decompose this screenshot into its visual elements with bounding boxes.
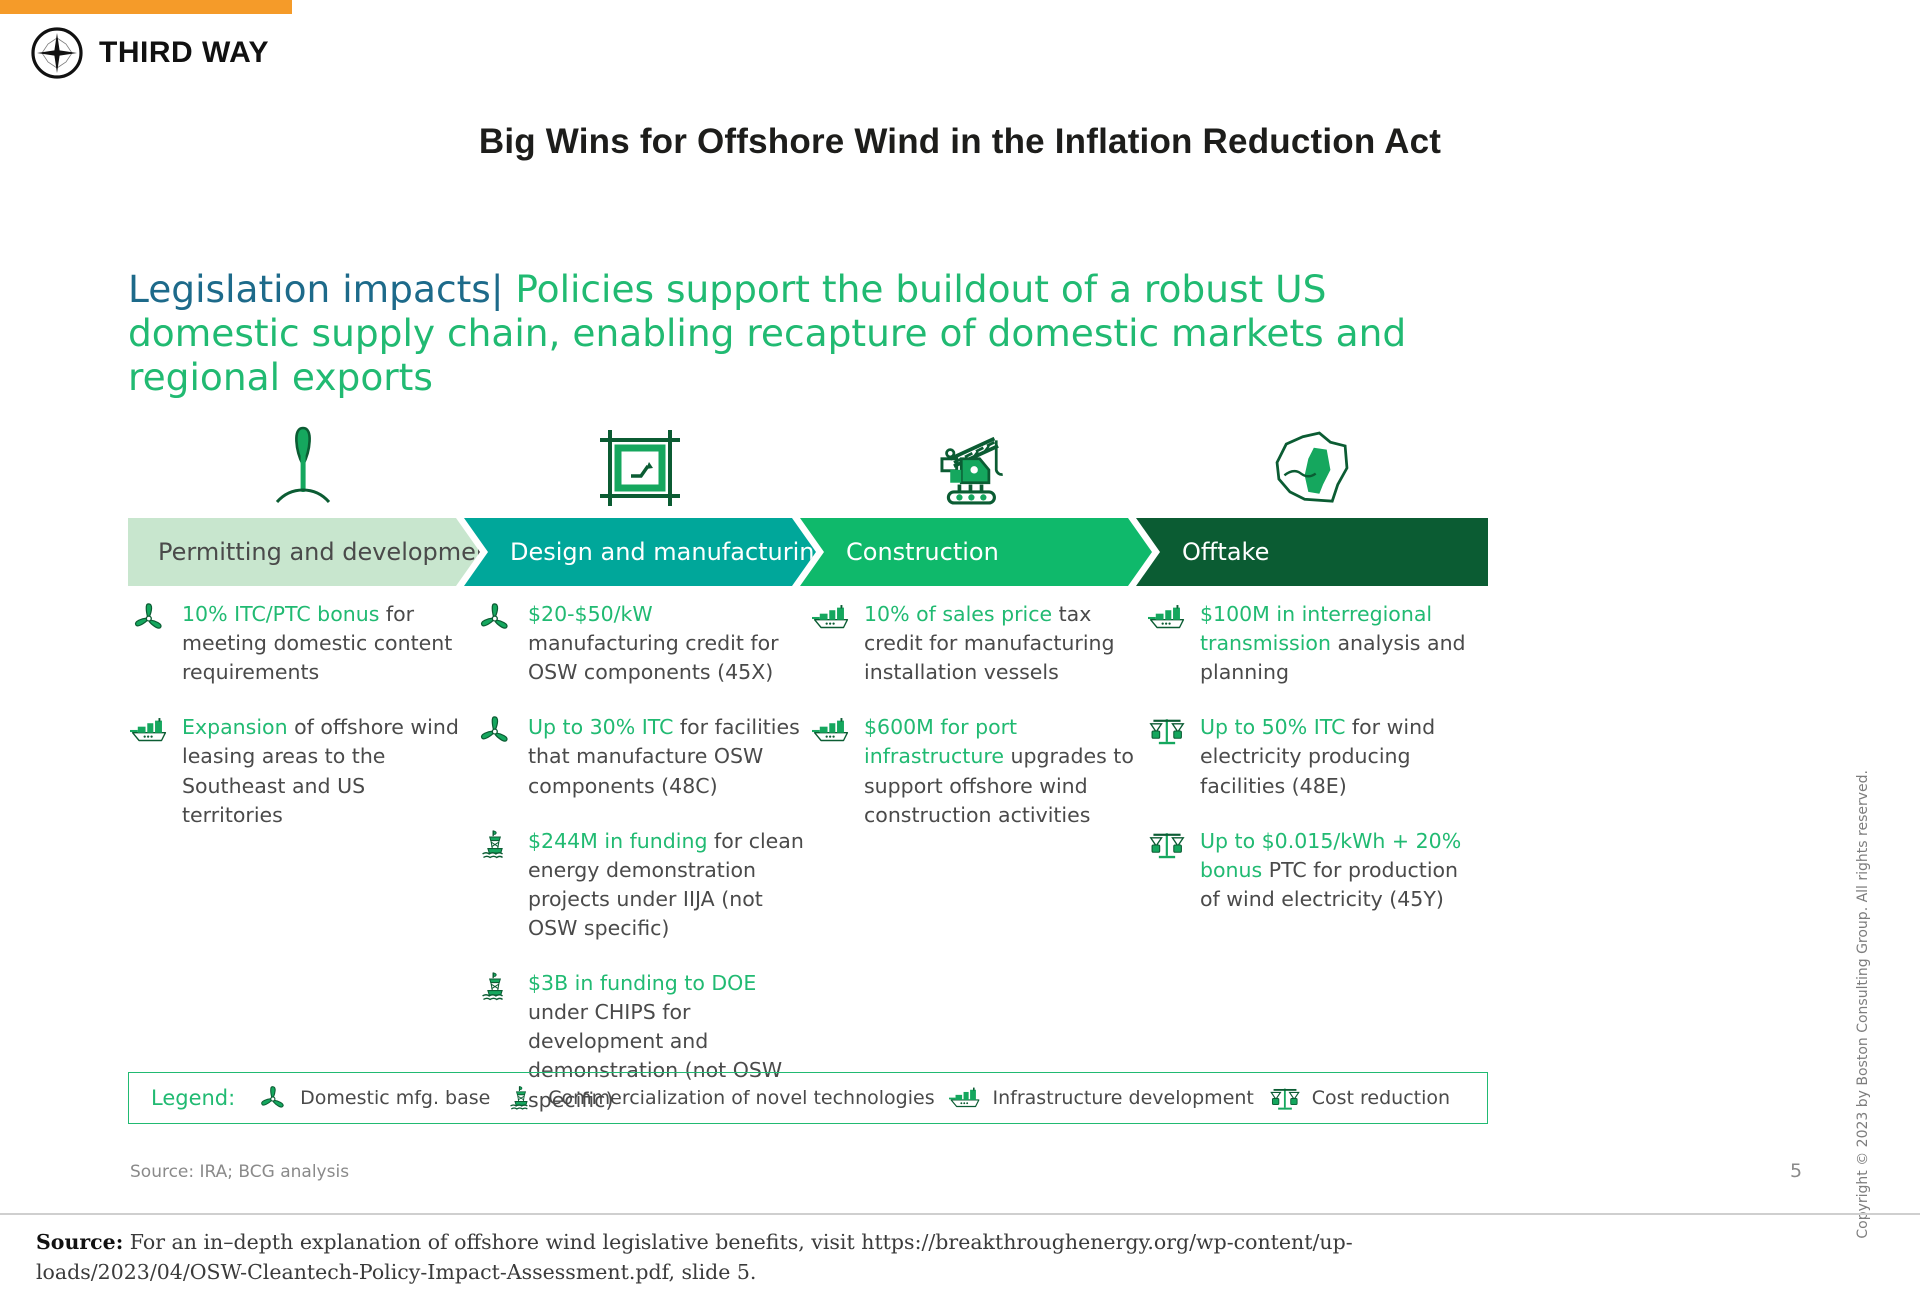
legend-item-4: Cost reduction <box>1268 1083 1450 1113</box>
stage-icon-1 <box>244 416 364 516</box>
benefit-item: Up to $0.015/kWh + 20% bonus PTC for pro… <box>1146 827 1480 914</box>
ship-icon <box>128 713 170 749</box>
footer-divider <box>0 1213 1920 1215</box>
benefit-highlight: $600M for port infrastructure <box>864 715 1017 768</box>
stage-chevron-2[interactable]: Design and manufacturing <box>464 518 816 586</box>
stage-column-3: 10% of sales price tax credit for manufa… <box>810 600 1144 856</box>
wind-turbine-icon <box>258 424 350 516</box>
benefit-item: $244M in funding for clean energy demons… <box>474 827 808 943</box>
benefit-text: $244M in funding for clean energy demons… <box>528 827 808 943</box>
benefit-highlight: $244M in funding <box>528 829 708 853</box>
subtitle: Legislation impacts| Policies support th… <box>128 268 1488 400</box>
benefit-highlight: 10% ITC/PTC bonus <box>182 602 379 626</box>
page-title: Big Wins for Offshore Wind in the Inflat… <box>0 122 1920 162</box>
blueprint-icon <box>594 424 686 516</box>
benefit-item: 10% of sales price tax credit for manufa… <box>810 600 1144 687</box>
legend-label: Domestic mfg. base <box>300 1087 490 1109</box>
brand-name: THIRD WAY <box>99 36 269 70</box>
buoy-icon <box>474 827 516 863</box>
benefit-highlight: 10% of sales price <box>864 602 1052 626</box>
turbine-blade-icon <box>256 1083 290 1113</box>
benefit-highlight: Up to 30% ITC <box>528 715 673 739</box>
footer-source-text: For an in–depth explanation of offshore … <box>36 1230 1353 1284</box>
legend-label: Cost reduction <box>1312 1087 1450 1109</box>
benefit-item: $600M for port infrastructure upgrades t… <box>810 713 1144 829</box>
stage-chevron-4[interactable]: Offtake <box>1136 518 1488 586</box>
footer-source: Source: For an in–depth explanation of o… <box>36 1228 1536 1287</box>
subtitle-separator: | <box>491 267 504 311</box>
benefit-text: Up to $0.015/kWh + 20% bonus PTC for pro… <box>1200 827 1480 914</box>
benefit-text: Expansion of offshore wind leasing areas… <box>182 713 462 829</box>
stage-icon-row <box>128 408 1488 516</box>
benefit-text: $600M for port infrastructure upgrades t… <box>864 713 1144 829</box>
stage-column-4: $100M in interregional transmission anal… <box>1146 600 1480 940</box>
ship-icon <box>948 1083 982 1113</box>
subtitle-lead: Legislation impacts <box>128 267 491 311</box>
source-note: Source: IRA; BCG analysis <box>130 1162 349 1182</box>
crane-icon <box>930 424 1022 516</box>
turbine-blade-icon <box>474 600 516 636</box>
benefit-highlight: $3B in funding to DOE <box>528 971 756 995</box>
copyright-notice: Copyright © 2023 by Boston Consulting Gr… <box>1855 770 1871 1239</box>
benefit-text: $100M in interregional transmission anal… <box>1200 600 1480 687</box>
stage-label-1: Permitting and development <box>158 538 501 566</box>
brand-logo: THIRD WAY <box>30 26 269 80</box>
stage-label-4: Offtake <box>1182 538 1269 566</box>
benefit-highlight: Up to 50% ITC <box>1200 715 1345 739</box>
turbine-blade-icon <box>474 713 516 749</box>
stage-banner: Permitting and developmentDesign and man… <box>128 518 1488 586</box>
benefit-highlight: Expansion <box>182 715 288 739</box>
benefit-item: Expansion of offshore wind leasing areas… <box>128 713 462 829</box>
legend-item-2: Commercialization of novel technologies <box>504 1083 934 1113</box>
buoy-icon <box>504 1083 538 1113</box>
map-region-icon <box>1266 424 1358 516</box>
stage-chevron-3[interactable]: Construction <box>800 518 1152 586</box>
stage-label-3: Construction <box>846 538 999 566</box>
legend-item-1: Domestic mfg. base <box>256 1083 490 1113</box>
stage-column-1: 10% ITC/PTC bonus for meeting domestic c… <box>128 600 462 856</box>
scales-icon <box>1146 827 1188 863</box>
stage-icon-4 <box>1252 416 1372 516</box>
benefit-text: 10% of sales price tax credit for manufa… <box>864 600 1144 687</box>
benefit-body: manufacturing credit for OSW components … <box>528 631 779 684</box>
accent-bar <box>0 0 292 14</box>
benefit-item: $20-$50/kW manufacturing credit for OSW … <box>474 600 808 687</box>
buoy-icon <box>474 969 516 1005</box>
scales-icon <box>1268 1083 1302 1113</box>
stage-columns: 10% ITC/PTC bonus for meeting domestic c… <box>128 600 1496 1060</box>
legend: Legend: Domestic mfg. base Commercializa… <box>128 1072 1488 1124</box>
benefit-highlight: $20-$50/kW <box>528 602 653 626</box>
benefit-item: $100M in interregional transmission anal… <box>1146 600 1480 687</box>
stage-icon-3 <box>916 416 1036 516</box>
scales-icon <box>1146 713 1188 749</box>
benefit-item: 10% ITC/PTC bonus for meeting domestic c… <box>128 600 462 687</box>
compass-star-icon <box>30 26 84 80</box>
stage-column-2: $20-$50/kW manufacturing credit for OSW … <box>474 600 808 1141</box>
benefit-text: 10% ITC/PTC bonus for meeting domestic c… <box>182 600 462 687</box>
benefit-item: Up to 30% ITC for facilities that manufa… <box>474 713 808 800</box>
ship-icon <box>810 600 852 636</box>
ship-icon <box>1146 600 1188 636</box>
stage-icon-2 <box>580 416 700 516</box>
benefit-text: Up to 50% ITC for wind electricity produ… <box>1200 713 1480 800</box>
benefit-item: Up to 50% ITC for wind electricity produ… <box>1146 713 1480 800</box>
legend-label: Commercialization of novel technologies <box>548 1087 934 1109</box>
legend-title: Legend: <box>151 1086 235 1110</box>
legend-item-3: Infrastructure development <box>948 1083 1253 1113</box>
page-number: 5 <box>1790 1160 1802 1182</box>
stage-label-2: Design and manufacturing <box>510 538 830 566</box>
benefit-text: $20-$50/kW manufacturing credit for OSW … <box>528 600 808 687</box>
turbine-blade-icon <box>128 600 170 636</box>
legend-label: Infrastructure development <box>992 1087 1253 1109</box>
footer-source-label: Source: <box>36 1230 123 1254</box>
ship-icon <box>810 713 852 749</box>
benefit-text: Up to 30% ITC for facilities that manufa… <box>528 713 808 800</box>
stage-chevron-1[interactable]: Permitting and development <box>128 518 480 586</box>
